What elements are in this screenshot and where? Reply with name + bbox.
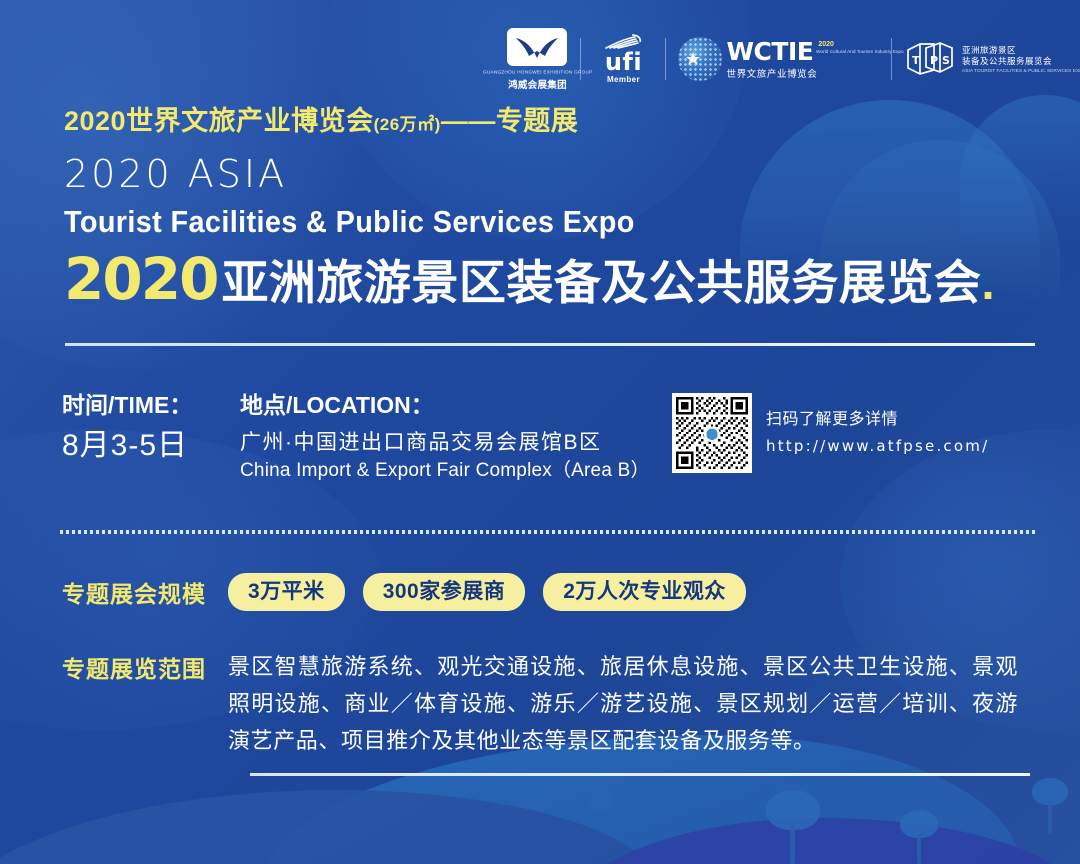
exhibition-scale-row: 专题展会规模 3万平米 300家参展商 2万人次专业观众 (62, 573, 764, 611)
svg-text:S: S (942, 54, 950, 67)
background-wave-secondary (0, 790, 660, 864)
logo-divider (665, 38, 666, 80)
website-url[interactable]: http://www.atfpse.com/ (766, 434, 989, 458)
headline-line-1: 2020世界文旅产业博览会(26万㎡)——专题展 (64, 104, 995, 142)
time-label: 时间/TIME： (62, 388, 240, 422)
status-badge: 2万人次专业观众 (543, 573, 746, 611)
atfpse-chinese-line2: 装备及公共服务展览会 (962, 56, 1054, 67)
hongwei-mark-icon (507, 28, 567, 66)
logo-ufi: ufi Member (593, 34, 653, 84)
headline-line1-prefix: 2020世界文旅产业博览会 (64, 106, 374, 136)
logo-atfpse: T P S 亚洲旅游景区 装备及公共服务展览会 ASIA TOURIST FAC… (904, 40, 1054, 78)
hongwei-logo-english: GUANGZHOU HONGWEI EXHIBITION GROUP (483, 69, 592, 76)
hongwei-logo-chinese: 鸿威会展集团 (508, 77, 567, 91)
qr-code-icon[interactable] (672, 393, 752, 473)
headline-expo-name-chinese: 亚洲旅游景区装备及公共服务展览会 (221, 252, 981, 314)
time-value: 8月3-5日 (62, 424, 240, 468)
tree-icon (590, 790, 616, 830)
headline-line-4: 2020 亚洲旅游景区装备及公共服务展览会 . (64, 248, 995, 314)
scale-section-label: 专题展会规模 (62, 575, 206, 609)
divider-solid-top (65, 343, 1035, 346)
logo-wctie: WCTIE 2020 World Cultural And Tourism In… (678, 37, 879, 81)
exhibition-scope-row: 专题展览范围 景区智慧旅游系统、观光交通设施、旅居休息设施、景区公共卫生设施、景… (62, 648, 1018, 759)
logo-divider (891, 38, 892, 80)
logo-bar: GUANGZHOU HONGWEI EXHIBITION GROUP 鸿威会展集… (506, 28, 1054, 90)
ufi-member-label: Member (607, 75, 640, 84)
headline-year-logotype: 2020 (64, 248, 217, 310)
tree-icon (766, 790, 820, 864)
tree-icon (900, 810, 938, 864)
headline-line1-suffix: ——专题展 (441, 106, 579, 136)
headline-line-3: Tourist Facilities & Public Services Exp… (64, 202, 929, 242)
svg-text:P: P (930, 54, 938, 67)
qr-caption-block: 扫码了解更多详情 http://www.atfpse.com/ (766, 408, 989, 458)
svg-text:T: T (912, 54, 920, 67)
location-value-chinese: 广州·中国进出口商品交易会展馆B区 (240, 428, 650, 458)
location-value-english: China Import & Export Fair Complex（Area … (240, 458, 650, 484)
wctie-year: 2020 (818, 41, 879, 49)
atfpse-mark-icon: T P S (904, 40, 956, 78)
scope-description: 景区智慧旅游系统、观光交通设施、旅居休息设施、景区公共卫生设施、景观照明设施、商… (228, 648, 1018, 759)
scale-badges: 3万平米 300家参展商 2万人次专业观众 (228, 573, 764, 611)
headline-block: 2020世界文旅产业博览会(26万㎡)——专题展 2020 ASIA Touri… (64, 104, 995, 314)
wctie-english: World Cultural And Tourism Industry Expo (816, 49, 904, 55)
event-time-column: 时间/TIME： 8月3-5日 (62, 388, 240, 484)
divider-dotted (60, 530, 1035, 534)
headline-line1-area: (26万㎡) (374, 115, 441, 134)
background-wave-tertiary (560, 818, 1080, 864)
globe-icon (678, 37, 722, 81)
status-badge: 300家参展商 (363, 573, 526, 611)
qr-block[interactable]: 扫码了解更多详情 http://www.atfpse.com/ (672, 393, 989, 473)
wctie-wordmark: WCTIE (726, 39, 813, 64)
atfpse-chinese-line1: 亚洲旅游景区 (962, 45, 1054, 56)
atfpse-english: ASIA TOURIST FACILITIES & PUBLIC SERVICE… (962, 68, 1080, 75)
ufi-wordmark: ufi (605, 50, 642, 74)
poster-canvas: GUANGZHOU HONGWEI EXHIBITION GROUP 鸿威会展集… (0, 0, 1080, 864)
event-info-row: 时间/TIME： 8月3-5日 地点/LOCATION： 广州·中国进出口商品交… (62, 388, 650, 484)
location-label: 地点/LOCATION： (240, 388, 650, 422)
divider-solid-bottom (250, 773, 1030, 776)
logo-hongwei-exhibition-group: GUANGZHOU HONGWEI EXHIBITION GROUP 鸿威会展集… (506, 28, 568, 91)
event-location-column: 地点/LOCATION： 广州·中国进出口商品交易会展馆B区 China Imp… (240, 388, 650, 484)
tree-icon (1032, 778, 1068, 834)
qr-caption: 扫码了解更多详情 (766, 408, 989, 432)
headline-accent-dot: . (981, 252, 994, 314)
headline-line-2: 2020 ASIA (64, 148, 995, 200)
wctie-chinese: 世界文旅产业博览会 (726, 66, 879, 80)
scope-section-label: 专题展览范围 (62, 648, 206, 759)
status-badge: 3万平米 (228, 573, 345, 611)
